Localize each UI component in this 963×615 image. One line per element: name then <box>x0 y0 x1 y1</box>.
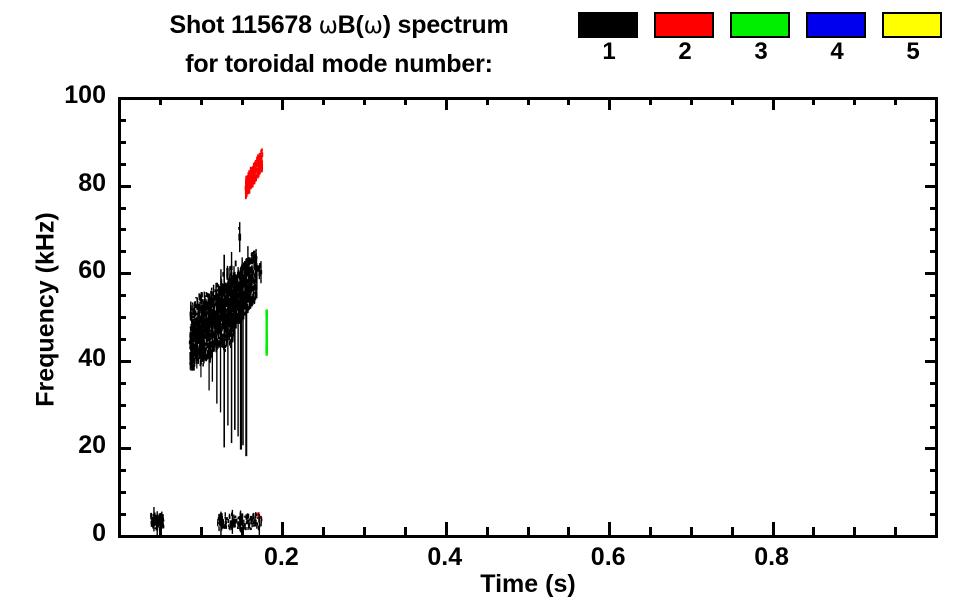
x-tick-1 <box>935 522 938 535</box>
legend-swatch-2 <box>654 12 714 38</box>
legend-item-5[interactable]: 5 <box>882 12 944 68</box>
title-prefix: Shot 115678 <box>170 11 319 39</box>
legend-label-4: 4 <box>806 39 868 65</box>
legend-swatch-5 <box>882 12 942 38</box>
y-axis-label: Frequency (kHz) <box>32 160 61 460</box>
y-tick-0 <box>118 535 131 538</box>
legend-item-4[interactable]: 4 <box>806 12 868 68</box>
title-line-1: Shot 115678 ωB(ω) spectrum <box>104 6 574 45</box>
legend: 1 2 3 4 5 <box>578 12 960 74</box>
legend-swatch-3 <box>730 12 790 38</box>
title-middle: B( <box>338 11 364 39</box>
series-n=1-lowfreq <box>150 512 262 532</box>
x-tick-label-0.8: 0.8 <box>732 543 812 572</box>
plot-page: Shot 115678 ωB(ω) spectrum for toroidal … <box>0 0 963 615</box>
x-tick-label-0.4: 0.4 <box>405 543 485 572</box>
series-n=2 <box>246 156 263 519</box>
legend-item-1[interactable]: 1 <box>578 12 640 68</box>
legend-label-1: 1 <box>578 39 640 65</box>
y-tick-label-100: 100 <box>0 81 106 110</box>
plot-data-area <box>121 97 935 535</box>
series-n=3-segment <box>265 309 267 355</box>
omega-symbol-2: ω <box>364 13 383 39</box>
series-n=2-chirp <box>245 148 264 199</box>
spectrum-scatter <box>121 97 935 535</box>
legend-swatch-1 <box>578 12 638 38</box>
legend-label-5: 5 <box>882 39 944 65</box>
legend-item-3[interactable]: 3 <box>730 12 792 68</box>
chart-title: Shot 115678 ωB(ω) spectrum for toroidal … <box>104 6 574 83</box>
legend-label-3: 3 <box>730 39 792 65</box>
legend-label-2: 2 <box>654 39 716 65</box>
legend-item-2[interactable]: 2 <box>654 12 716 68</box>
x-tick-label-0.2: 0.2 <box>241 543 321 572</box>
title-line-2: for toroidal mode number: <box>104 45 574 83</box>
series-n=1-core <box>189 249 257 371</box>
y-tick-label-0: 0 <box>0 519 106 548</box>
y-tick-right-0 <box>925 535 938 538</box>
legend-swatch-4 <box>806 12 866 38</box>
x-axis-label: Time (s) <box>118 570 938 599</box>
x-tick-label-0.6: 0.6 <box>568 543 648 572</box>
omega-symbol-1: ω <box>319 13 338 39</box>
title-suffix: ) spectrum <box>383 11 509 39</box>
